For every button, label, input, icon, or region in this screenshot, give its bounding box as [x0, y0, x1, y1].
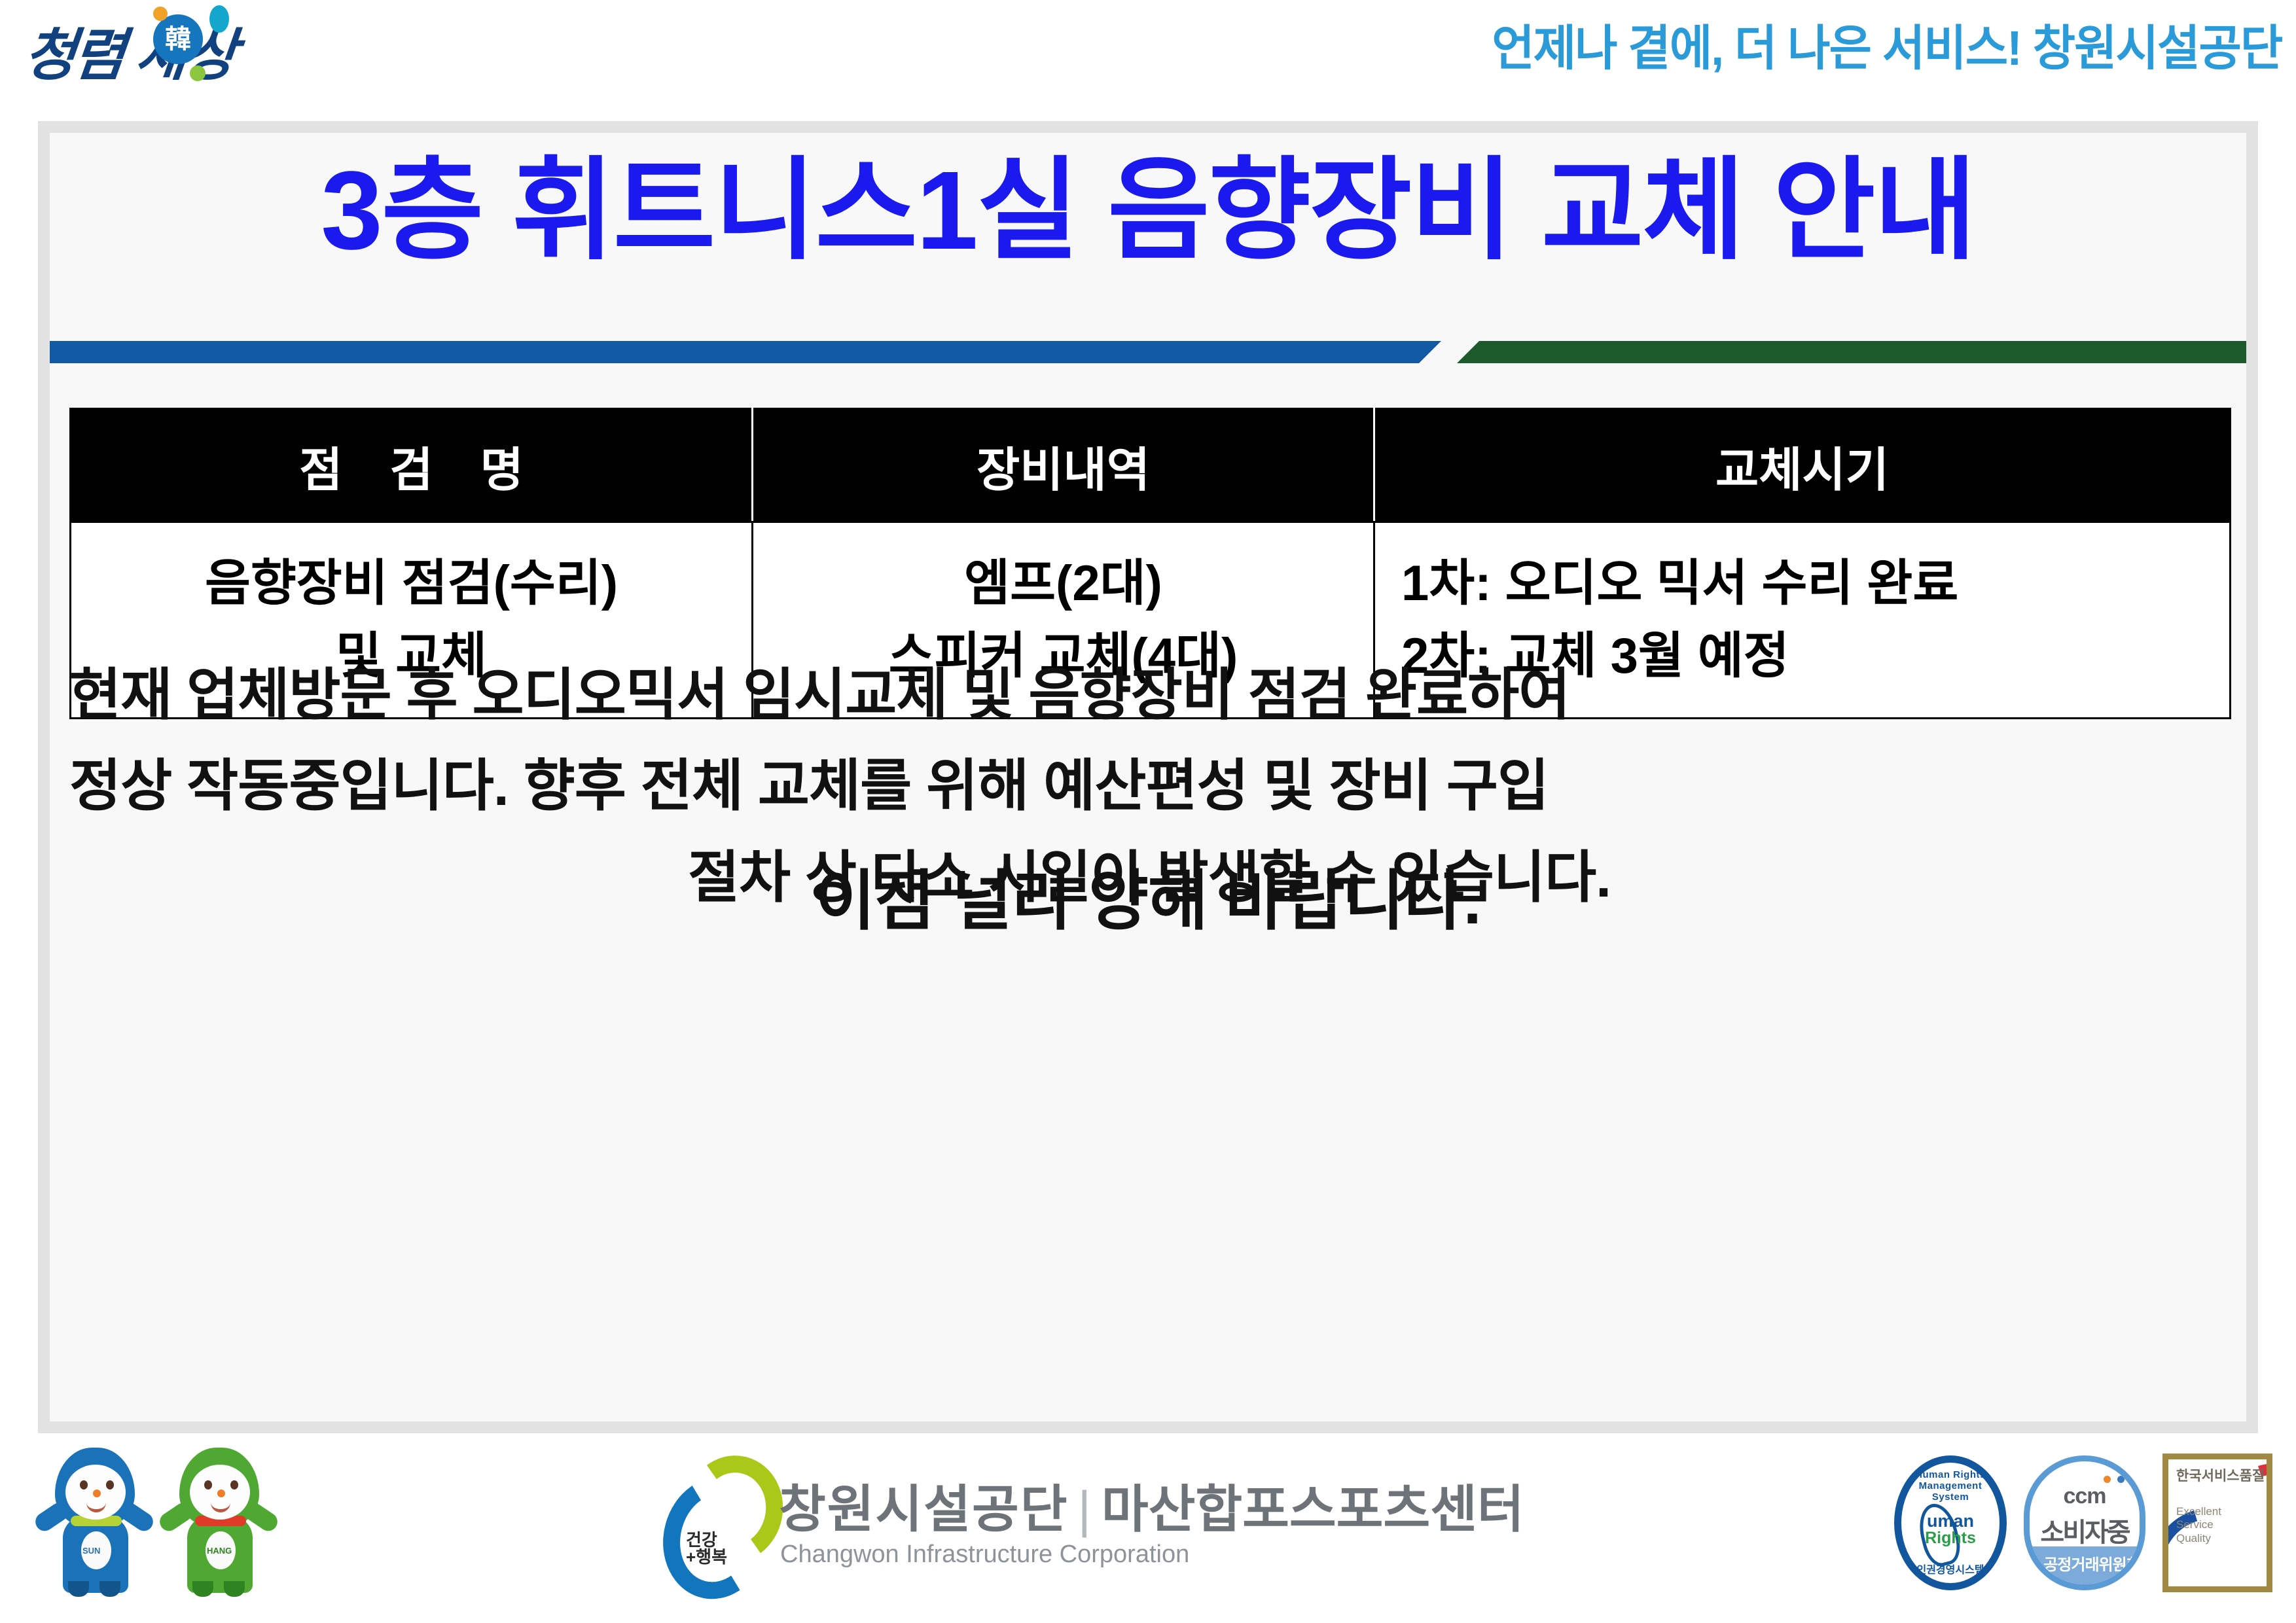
- ccm-dot-blue-icon: [2117, 1476, 2125, 1483]
- footer: SUN HANG 건강 +행복: [0, 1433, 2296, 1623]
- cell-inspection-name-line1: 음향장비 점검(수리): [81, 548, 742, 620]
- divider-bar-green: [1457, 341, 2246, 363]
- corporation-name-en: Changwon Infrastructure Corporation: [780, 1541, 1189, 1569]
- green-mascot-eye-right: [230, 1480, 238, 1489]
- green-mascot: HANG: [170, 1448, 268, 1598]
- green-mascot-leg-left: [192, 1581, 213, 1597]
- cell-schedule-line1: 1차: 오디오 믹서 수리 완료: [1401, 548, 2220, 620]
- column-header-inspection-name-label: 점 검 명: [282, 444, 541, 497]
- mark-caption-line2: +행복: [686, 1547, 727, 1567]
- logo-dot-orange-icon: [153, 7, 168, 21]
- corporation-name: 창원시설공단|마산합포스포츠센터: [779, 1469, 1524, 1542]
- top-bar: 청렴 세상 韓 언제나 곁에, 더 나은 서비스! 창원시설공단: [0, 0, 2296, 121]
- human-rights-ring-top: Human Rights Management System: [1901, 1469, 2000, 1503]
- blue-mascot-tag: SUN: [82, 1546, 100, 1556]
- column-header-equipment: 장비내역: [753, 409, 1374, 522]
- esq-english-line2: Service: [2176, 1518, 2214, 1531]
- blue-mascot-eye-left: [80, 1480, 88, 1489]
- notice-frame: 3층 휘트니스1실 음향장비 교체 안내 점 검 명 장비내역 교체시기 음향장…: [38, 121, 2258, 1433]
- body-line-2: 정상 작동중입니다. 향후 전체 교체를 위해 예산편성 및 장비 구입: [69, 741, 2229, 832]
- green-mascot-leg-right: [224, 1581, 245, 1597]
- closing-line: 이점 널리 양해 바랍니다.: [50, 847, 2246, 942]
- excellent-service-quality-badge-icon: 한국서비스품질 우수기관 Excellent Service Quality: [2162, 1454, 2272, 1592]
- corporation-branch-ko: 마산합포스포츠센터: [1102, 1480, 1524, 1538]
- notice-frame-inner: 3층 휘트니스1실 음향장비 교체 안내 점 검 명 장비내역 교체시기 음향장…: [50, 133, 2246, 1421]
- blue-mascot-leg-left: [68, 1581, 89, 1597]
- page-title: 3층 휘트니스1실 음향장비 교체 안내: [50, 152, 2246, 270]
- green-mascot-eye-left: [204, 1480, 212, 1489]
- human-rights-word-2: Rights: [1901, 1530, 2000, 1546]
- integrity-seal-icon: 韓: [153, 14, 203, 64]
- mascot-group: SUN HANG: [46, 1448, 295, 1605]
- body-line-1: 현재 업체방문 후 오디오믹서 임시교체 및 음향장비 점검 완료하여: [69, 650, 2229, 741]
- esq-english-line3: Quality: [2176, 1532, 2211, 1544]
- integrity-logo-text: 청렴 세상: [20, 9, 239, 91]
- logo-dot-cyan-icon: [209, 5, 229, 33]
- logo-dot-green-icon: [190, 65, 206, 81]
- mark-caption: 건강 +행복: [686, 1531, 727, 1565]
- column-header-schedule: 교체시기: [1374, 409, 2231, 522]
- human-rights-word-1: uman: [1901, 1512, 2000, 1530]
- ccm-dot-orange-icon: [2104, 1476, 2111, 1483]
- corporation-mark-icon: 건강 +행복: [661, 1454, 753, 1565]
- green-mascot-nose: [217, 1489, 225, 1497]
- esq-english-line1: Excellent: [2176, 1505, 2221, 1518]
- company-slogan: 언제나 곁에, 더 나은 서비스! 창원시설공단: [1492, 9, 2282, 79]
- ccm-authority-label: 공정거래위원회: [2024, 1546, 2145, 1584]
- cell-equipment-line1: 엠프(2대): [762, 548, 1364, 620]
- divider-bar-blue: [50, 341, 1441, 363]
- esq-korean-label: 한국서비스품질 우수기관: [2176, 1469, 2272, 1484]
- corporation-logo: 건강 +행복 창원시설공단|마산합포스포츠센터 Changwon Infrast…: [655, 1452, 1676, 1602]
- green-mascot-tag: HANG: [207, 1546, 232, 1556]
- human-rights-badge-icon: Human Rights Management System uman Righ…: [1894, 1455, 2007, 1590]
- ccm-badge-icon: ccm 소비자중심 공정거래위원회: [2024, 1455, 2145, 1590]
- corporation-name-ko: 창원시설공단: [779, 1480, 1069, 1538]
- integrity-world-logo: 청렴 세상 韓: [25, 5, 300, 77]
- human-rights-wordmark: uman Rights: [1901, 1512, 2000, 1546]
- ccm-wordmark: ccm: [2030, 1484, 2140, 1509]
- blue-mascot-eye-right: [106, 1480, 114, 1489]
- title-divider: [50, 341, 2246, 363]
- column-header-inspection-name: 점 검 명: [71, 409, 753, 522]
- table-header-row: 점 검 명 장비내역 교체시기: [71, 409, 2231, 522]
- blue-mascot-leg-right: [99, 1581, 120, 1597]
- esq-english-label: Excellent Service Quality: [2176, 1505, 2221, 1545]
- certification-badges: Human Rights Management System uman Righ…: [1894, 1448, 2272, 1598]
- blue-mascot-nose: [93, 1489, 101, 1497]
- blue-mascot: SUN: [46, 1448, 144, 1598]
- corporation-name-separator: |: [1069, 1480, 1102, 1538]
- human-rights-ring-bottom: 인권경영시스템: [1901, 1561, 2000, 1577]
